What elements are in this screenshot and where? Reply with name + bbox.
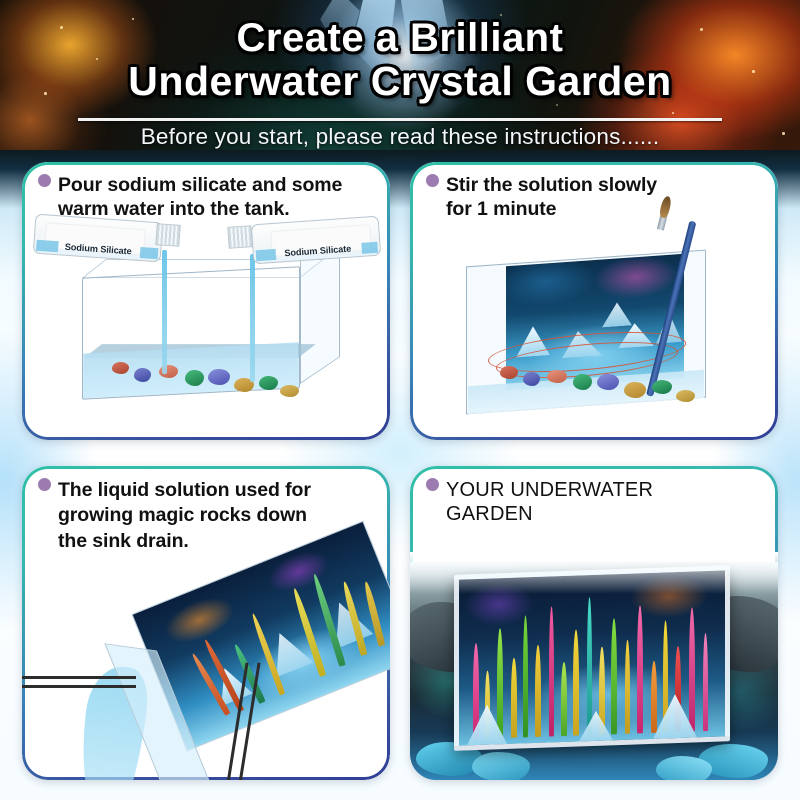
seabed-gravel xyxy=(472,752,530,780)
header-banner: Create a Brilliant Underwater Crystal Ga… xyxy=(0,0,800,162)
crystal-spire xyxy=(549,606,554,736)
panel-3-line-1: The liquid solution used for xyxy=(58,478,311,503)
magic-rock xyxy=(259,376,278,390)
magic-rock xyxy=(185,370,204,386)
drain-pipe-bottom xyxy=(22,685,136,688)
pour-stream-left xyxy=(162,250,167,374)
magic-rock xyxy=(134,368,151,382)
crystal-spire xyxy=(573,629,579,735)
bullet-icon xyxy=(426,174,439,187)
panel-3-line-3: the sink drain. xyxy=(58,529,380,554)
crystal-spire xyxy=(497,628,503,738)
panel-2-line-1: Stir the solution slowly xyxy=(446,174,657,198)
panel-4-line-2: GARDEN xyxy=(446,502,768,526)
bullet-icon xyxy=(38,478,51,491)
subtitle: Before you start, please read these inst… xyxy=(0,124,800,150)
magic-rock xyxy=(652,380,672,394)
magic-rock xyxy=(500,366,518,379)
panel-1-line-2: warm water into the tank. xyxy=(58,198,380,222)
title-line-2: Underwater Crystal Garden xyxy=(0,61,800,103)
step-panel-2[interactable]: Stir the solution slowly for 1 minute xyxy=(410,162,778,440)
crystal-spire xyxy=(625,640,630,734)
step-panel-3[interactable]: The liquid solution used for growing mag… xyxy=(22,466,390,780)
pour-stream-right xyxy=(250,254,255,382)
panel-4-line-1: YOUR UNDERWATER xyxy=(446,478,653,502)
panel-4-top-fade xyxy=(410,552,778,594)
bullet-icon xyxy=(38,174,51,187)
panel-3-text: The liquid solution used for growing mag… xyxy=(38,478,380,554)
magic-rock xyxy=(676,390,695,402)
title-line-1: Create a Brilliant xyxy=(0,18,800,59)
magic-rock xyxy=(597,374,619,390)
star-speck xyxy=(556,104,558,106)
crystal-spire xyxy=(651,661,657,733)
step-panel-4[interactable]: YOUR UNDERWATER GARDEN xyxy=(410,466,778,780)
crystal-spire xyxy=(637,605,643,733)
tilted-tank xyxy=(131,521,390,752)
drain-pipe-top xyxy=(22,676,136,679)
magic-rock xyxy=(208,369,230,385)
crystal-spire xyxy=(703,633,708,731)
bullet-icon xyxy=(426,478,439,491)
bottle-right: Sodium Silicate xyxy=(251,216,381,265)
magic-rock xyxy=(280,385,299,397)
bottle-neck-left xyxy=(155,223,180,247)
panel-2-line-2: for 1 minute xyxy=(446,198,768,222)
crystal-spire xyxy=(587,597,592,735)
magic-rock xyxy=(624,382,646,398)
magic-rock xyxy=(547,370,567,383)
title-divider xyxy=(78,118,722,121)
crystal-spire xyxy=(523,615,528,737)
seabed-gravel xyxy=(656,756,712,780)
poster-root: Create a Brilliant Underwater Crystal Ga… xyxy=(0,0,800,800)
crystal-spire xyxy=(511,658,517,738)
bottle-neck-right xyxy=(227,225,252,249)
panel-1-line-1: Pour sodium silicate and some xyxy=(58,174,342,198)
panel-3-line-2: growing magic rocks down xyxy=(58,503,380,528)
panel-1-text: Pour sodium silicate and some warm water… xyxy=(38,174,380,222)
iceberg-rock xyxy=(579,710,613,741)
magic-rock xyxy=(573,374,592,390)
star-speck xyxy=(672,112,674,114)
panel-2-text: Stir the solution slowly for 1 minute xyxy=(426,174,768,222)
crystal-spire xyxy=(611,618,617,734)
magic-rock xyxy=(523,372,540,386)
step-panel-1[interactable]: Sodium Silicate Sodium Silicate Pour sod… xyxy=(22,162,390,440)
panel-4-text: YOUR UNDERWATER GARDEN xyxy=(426,478,768,527)
crystal-spire xyxy=(689,607,695,731)
title-block: Create a Brilliant Underwater Crystal Ga… xyxy=(0,18,800,103)
crystal-spire xyxy=(561,662,567,736)
crystal-spire xyxy=(535,645,541,737)
magic-rock xyxy=(112,362,129,374)
iceberg-rock xyxy=(602,301,632,327)
